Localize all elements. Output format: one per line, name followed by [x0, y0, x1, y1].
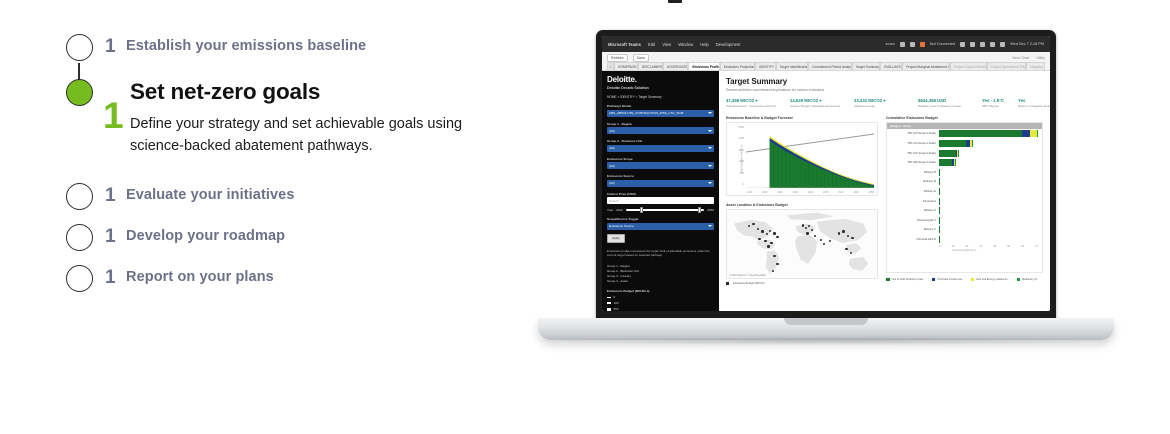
area-chart-svg — [746, 126, 874, 188]
bar-category-label: Refinery B — [887, 171, 939, 174]
year-slider[interactable]: Year 2022 2050 — [607, 208, 714, 212]
tab-target-identification[interactable]: Target Identification — [776, 62, 808, 70]
bar-chart-xticks: 0 10 20 30 40 50 60 70 — [939, 245, 1042, 248]
tab-emissions-projections[interactable]: Emissions Projections — [720, 62, 755, 70]
bar-segment-purchased-goods — [1022, 130, 1030, 137]
kpi-value: 33,431 MtCO2 e — [854, 98, 908, 103]
menu-edit[interactable]: Edit — [648, 42, 655, 47]
map-plot[interactable]: © 2022 Mapbox © OpenStreetMap — [726, 209, 878, 279]
deloitte-logo: Deloitte. — [607, 76, 714, 84]
ytick: 1000 — [734, 160, 744, 163]
step-body-3: Evaluate your initiatives — [126, 183, 295, 203]
step-item-1[interactable]: 1 Establish your emissions baseline — [62, 34, 366, 61]
step-body-5: Report on your plans — [126, 265, 274, 285]
menu-view[interactable]: View — [662, 42, 671, 47]
step-circle-icon[interactable] — [66, 224, 93, 251]
apply-button[interactable]: Apply — [607, 234, 625, 243]
bar-category-label: TBC (UK Scope 3 Scale) — [887, 152, 939, 155]
xtick: 2022 — [762, 191, 767, 194]
step-body-2: Set net-zero goals Define your strategy … — [130, 79, 482, 157]
map-marker[interactable] — [764, 240, 766, 242]
report-tab-bar: ‹ HOMEPAGE DISCLAIMER AGGREGATE Emission… — [607, 62, 1045, 70]
area-chart-title: Emissions Baseline & Budget Forecast — [726, 116, 878, 120]
map-marker[interactable] — [776, 236, 778, 238]
budget-legend-item: 100 — [607, 301, 714, 305]
legend-item[interactable]: Stationary (S... — [1017, 278, 1039, 281]
report-title: Target Summary — [726, 77, 1043, 86]
ytick: 500 — [734, 172, 744, 175]
bar-track — [939, 169, 1042, 176]
ytick: 2500 — [734, 126, 744, 129]
battery-icon[interactable] — [900, 42, 905, 47]
bar-track — [939, 236, 1042, 243]
emissions-baseline-chart: Emissions Baseline & Budget Forecast Tot… — [726, 116, 878, 196]
map-marker[interactable] — [806, 232, 808, 234]
laptop-shadow — [532, 337, 1120, 345]
kpi-label: Relative Cost of Abatement Gap — [918, 104, 972, 108]
legend-label: Purchase Goods and... — [937, 278, 964, 281]
step-item-4[interactable]: 1 Develop your roadmap — [62, 224, 285, 251]
xtick: 2042 — [838, 191, 843, 194]
year-slider-handle[interactable] — [698, 207, 701, 212]
step-title-5[interactable]: Report on your plans — [126, 265, 274, 285]
tab-project-capex-effective[interactable]: Project Capex Effective — [950, 62, 987, 70]
step-circle-active-icon[interactable] — [66, 79, 93, 106]
save-button[interactable]: Save — [633, 54, 649, 62]
map-title: Asset Location & Emissions Budget — [726, 203, 878, 207]
os-menu-bar: Microsoft Teams Edit View Window Help De… — [602, 36, 1050, 52]
bar-row[interactable]: Refinery E — [887, 187, 1042, 197]
bar-segment-use-of-sold — [939, 198, 940, 205]
year-slider-track[interactable] — [626, 209, 705, 211]
kpi-card: 14,529 MtCO2 e Carbon Budget (Allowable … — [790, 98, 844, 109]
bar-row[interactable]: Refinery K — [887, 206, 1042, 216]
legend-label: Use of Sold Products (Cate... — [892, 278, 926, 281]
step-marker-4 — [62, 224, 96, 251]
tab-scroll-left-icon[interactable]: ‹ — [607, 62, 614, 70]
step-marker-2 — [62, 79, 96, 106]
legend-swatch-icon — [932, 278, 935, 281]
kpi-value: Yes - 1.5°C — [982, 98, 1008, 103]
bar-segment-use-of-sold — [939, 159, 952, 166]
map-marker[interactable] — [770, 242, 772, 244]
app-body: Deloitte. Deloitte Decarb Solution HOME … — [602, 71, 1050, 311]
tab-target-summary[interactable]: Target Summary — [852, 62, 880, 70]
step-title-4[interactable]: Develop your roadmap — [126, 224, 285, 244]
bar-segment-use-of-sold — [939, 140, 966, 147]
map-marker[interactable] — [838, 232, 840, 234]
bar-segment-use-of-sold — [939, 150, 956, 157]
group-item-4: Group 4 - Asset — [607, 279, 714, 284]
kpi-card: 33,431 MtCO2 e Abatement Gap — [854, 98, 908, 109]
ytick: 2000 — [734, 137, 744, 140]
legend-swatch-icon — [607, 308, 611, 311]
step-marker-3 — [62, 183, 96, 210]
page-root: 1 Establish your emissions baseline 1 Se… — [0, 0, 1170, 434]
kpi-row: 47,456 MtCO2 e Total Emissions - Commitm… — [726, 98, 1043, 109]
filter-select-emissions-source[interactable]: (All) — [607, 180, 714, 187]
laptop-mockup: Microsoft Teams Edit View Window Help De… — [528, 30, 1166, 380]
kpi-card: 47,456 MtCO2 e Total Emissions - Commitm… — [726, 98, 780, 109]
legend-item[interactable]: Purchase Goods and... — [932, 278, 964, 281]
bar-row[interactable]: Refinery B — [887, 167, 1042, 177]
xtick: 60 — [1021, 245, 1024, 248]
xtick: 2034 — [808, 191, 813, 194]
filter-label-carbon-price: Carbon Price (USD) — [607, 192, 714, 196]
step-body-1: Establish your emissions baseline — [126, 34, 366, 54]
kpi-value: 47,456 MtCO2 e — [726, 98, 780, 103]
xtick: 40 — [993, 245, 996, 248]
bar-track — [939, 198, 1042, 205]
xtick: 30 — [979, 245, 982, 248]
kpi-label: Total Emissions - Commitment Period — [726, 104, 780, 108]
filter-select-scope-source-toggle[interactable]: Emissions Source — [607, 223, 714, 230]
legend-label: Stationary (S... — [1022, 278, 1039, 281]
step-title-2[interactable]: Set net-zero goals — [130, 79, 482, 105]
budget-legend-title: Emissions Budget (MtCO2 e) — [607, 289, 714, 293]
tab-commitment-period-analysis[interactable]: Commitment Period Analysis — [808, 62, 852, 70]
bar-category-label: Refinery C — [887, 228, 939, 231]
refresh-button[interactable]: Refresh — [607, 54, 628, 62]
map-marker[interactable] — [773, 232, 775, 234]
ytick: 0 — [734, 183, 744, 186]
app-toolbar: Refresh Save New Chart Utility ‹ HOMEPAG… — [602, 52, 1050, 71]
bar-category-label: Refinery M — [887, 180, 939, 183]
step-description-2: Define your strategy and set achievable … — [130, 113, 482, 157]
tab-homepage[interactable]: HOMEPAGE — [614, 62, 638, 70]
control-center-icon[interactable] — [1000, 42, 1005, 47]
xtick: 2026 — [777, 191, 782, 194]
kpi-label: Relies on Negative Emissions — [1018, 104, 1050, 108]
kpi-value: Yes — [1018, 98, 1050, 103]
search-icon[interactable] — [990, 42, 995, 47]
menu-development[interactable]: Development — [716, 42, 741, 47]
menu-window[interactable]: Window — [678, 42, 693, 47]
xtick: 2050 — [869, 191, 874, 194]
legend-value: 100 — [614, 301, 619, 305]
toolbar-right-group: New Chart Utility — [1012, 56, 1045, 60]
bar-track — [939, 207, 1042, 214]
bar-category-label: TBC (CA Scope 3 Scale) — [887, 142, 939, 145]
tab-mapping[interactable]: Mapping — [1026, 62, 1045, 70]
tab-project-operational-effect[interactable]: Project Operational Effect — [987, 62, 1027, 70]
toolbar-row-primary: Refresh Save New Chart Utility — [607, 54, 1045, 62]
tab-project-marginal-abatement[interactable]: Project Marginal Abatement C... — [902, 62, 949, 70]
xtick: 0 — [939, 245, 940, 248]
filter-select-emissions-scope[interactable]: (All) — [607, 162, 714, 169]
bar-row[interactable]: Chemical plant J — [887, 215, 1042, 225]
bar-segment-use-of-sold — [939, 178, 940, 185]
xtick: 10 — [952, 245, 955, 248]
filter-input-carbon-price[interactable]: Search — [607, 197, 714, 204]
map-marker[interactable] — [757, 228, 759, 230]
year-slider-max: 2050 — [707, 208, 714, 212]
menubar-app-name[interactable]: Microsoft Teams — [608, 42, 641, 47]
map-marker[interactable] — [814, 235, 816, 237]
report-subtitle: Review ambition commitment implications … — [726, 88, 1043, 92]
breadcrumb[interactable]: HOME > IDENTIFY > Target Summary — [607, 95, 714, 99]
cumulative-emissions-budget-chart: Cumulative Emissions Budget Group 4 - As… — [886, 116, 1043, 285]
bar-row[interactable]: TBC (CA Scope 3 Scale) — [887, 139, 1042, 149]
budget-legend-item: 500 — [607, 307, 714, 311]
solution-subtitle: Deloitte Decarb Solution — [607, 86, 714, 90]
kpi-label: Abatement Gap — [854, 104, 908, 108]
xtick: 70 — [1035, 245, 1038, 248]
kpi-card: Yes - 1.5°C SBTi Aligned — [982, 98, 1008, 109]
map-marker[interactable] — [820, 239, 822, 241]
xtick: 2030 — [793, 191, 798, 194]
bar-category-label: TBC (DE Scope 3 Scale) — [887, 161, 939, 164]
filter-label-emissions-scope: Emissions Scope — [607, 157, 714, 161]
step-marker-5 — [62, 265, 96, 292]
bar-chart-title: Cumulative Emissions Budget — [886, 116, 1043, 120]
laptop-lid: Microsoft Teams Edit View Window Help De… — [596, 30, 1056, 320]
bar-row[interactable]: Chemical plant D — [887, 235, 1042, 245]
report-canvas: Target Summary Review ambition commitmen… — [719, 71, 1050, 311]
step-number-3: 1 — [96, 183, 126, 205]
charts-row: Emissions Baseline & Budget Forecast Tot… — [726, 116, 1043, 285]
filter-select-group1-region[interactable]: (All) — [607, 127, 714, 134]
step-circle-icon[interactable] — [66, 183, 93, 210]
bar-track — [939, 188, 1042, 195]
legend-swatch-icon — [607, 302, 611, 304]
bar-segment-use-of-sold — [939, 169, 940, 176]
laptop-screen: Microsoft Teams Edit View Window Help De… — [602, 36, 1050, 311]
map-marker[interactable] — [802, 224, 804, 226]
new-chart-button[interactable]: New Chart — [1012, 56, 1029, 60]
map-marker[interactable] — [761, 230, 763, 232]
filters-note: Emissions budget represents the upper li… — [607, 249, 714, 258]
bar-track — [939, 217, 1042, 224]
menu-help[interactable]: Help — [700, 42, 709, 47]
map-marker[interactable] — [847, 235, 849, 237]
step-number-1: 1 — [96, 34, 126, 56]
xtick: 2038 — [823, 191, 828, 194]
cropped-text-fragment — [668, 0, 682, 3]
map-legend: Emissions Budget (MtCO2) — [726, 282, 878, 285]
bar-chart-legend: Use of Sold Products (Cate... Purchase G… — [886, 278, 1043, 281]
bar-track — [939, 140, 1042, 147]
alert-icon[interactable] — [920, 42, 925, 47]
filters-panel: Deloitte. Deloitte Decarb Solution HOME … — [602, 71, 719, 311]
bar-row[interactable]: TBC (DE Scope 3 Scale) — [887, 158, 1042, 168]
map-legend-swatch-icon — [726, 282, 729, 285]
bar-category-label: Oil sands A — [887, 200, 939, 203]
step-body-4: Develop your roadmap — [126, 224, 285, 244]
step-item-2[interactable]: 1 Set net-zero goals Define your strateg… — [62, 79, 482, 157]
step-circle-icon[interactable] — [66, 265, 93, 292]
ytick: 1500 — [734, 149, 744, 152]
gear-icon[interactable] — [910, 42, 915, 47]
bar-row[interactable]: Refinery C — [887, 225, 1042, 235]
xtick: 2019 — [747, 191, 752, 194]
kpi-value: $644,358 USD — [918, 98, 972, 103]
bar-chart-plot[interactable]: Group 4 - Asset TBC (US Scope 3 Scale) — [886, 122, 1043, 273]
kpi-label: Carbon Budget (Allowable Emissions) — [790, 104, 844, 108]
legend-swatch-icon — [1017, 278, 1020, 281]
bar-category-label: Chemical plant D — [887, 238, 939, 241]
area-chart-yticks: 2500 2000 1500 1000 500 0 — [734, 126, 744, 186]
map-marker[interactable] — [823, 243, 825, 245]
kpi-value: 14,529 MtCO2 e — [790, 98, 844, 103]
legend-value: 500 — [614, 307, 619, 311]
area-chart-xticks: 2019 2022 2026 2030 2034 2038 2042 2046 — [747, 191, 874, 194]
kpi-label: SBTi Aligned — [982, 104, 1008, 108]
clock-label[interactable]: Wed Dec 7 2:18 PM — [1010, 42, 1044, 46]
kpi-card: Yes Relies on Negative Emissions — [1018, 98, 1050, 109]
map-marker[interactable] — [773, 255, 775, 257]
legend-swatch-icon — [971, 278, 974, 281]
legend-swatch-icon — [886, 278, 889, 281]
filter-select-group2-business-unit[interactable]: (All) — [607, 145, 714, 152]
step-circle-icon[interactable] — [66, 34, 93, 61]
year-slider-label: Year — [607, 208, 613, 212]
tab-emissions-profile[interactable]: Emissions Profile — [688, 62, 719, 70]
step-number-4: 1 — [96, 224, 126, 246]
tab-identify[interactable]: IDENTIFY — [755, 62, 776, 70]
filter-label-group1-region: Group 1 - Region — [607, 122, 714, 126]
bar-row[interactable]: Refinery M — [887, 177, 1042, 187]
step-marker-1 — [62, 34, 96, 61]
bar-track — [939, 226, 1042, 233]
legend-item[interactable]: Use of Sold Products (Cate... — [886, 278, 925, 281]
bar-row[interactable]: Oil sands A — [887, 196, 1042, 206]
area-chart-plot[interactable]: Total Emissions (MtCO2 e) 2500 2000 1500… — [726, 122, 878, 196]
tab-aggregate[interactable]: AGGREGATE — [663, 62, 688, 70]
zoom-status-label[interactable]: zoom — [885, 42, 894, 46]
map-marker[interactable] — [842, 230, 844, 232]
bar-row[interactable]: TBC (US Scope 3 Scale) — [887, 129, 1042, 139]
bar-segment-use-of-sold — [939, 188, 940, 195]
map-marker[interactable] — [752, 223, 754, 225]
keyboard-icon[interactable] — [960, 42, 965, 47]
filter-select-pathways-model[interactable]: ABS_ABSOLUTE_CONTRACTION_2050_1.5C_SCM — [607, 110, 714, 117]
tab-evaluate[interactable]: EVALUATE — [880, 62, 902, 70]
bar-segment-use-of-sold — [939, 207, 940, 214]
year-slider-min: 2022 — [616, 208, 623, 212]
bar-category-label: Refinery K — [887, 209, 939, 212]
utility-button[interactable]: Utility — [1036, 56, 1045, 60]
step-title-1[interactable]: Establish your emissions baseline — [126, 34, 366, 54]
filter-label-group2-business-unit: Group 2 - Business Unit — [607, 139, 714, 143]
xtick: 20 — [965, 245, 968, 248]
tab-disclaimer[interactable]: DISCLAIMER — [638, 62, 663, 70]
legend-value: 0 — [614, 295, 616, 299]
bar-segment-fuel-energy — [1030, 130, 1038, 137]
bar-category-label: Refinery E — [887, 190, 939, 193]
bar-segment-stationary — [1037, 130, 1038, 137]
map-marker[interactable] — [767, 245, 769, 247]
progress-stepper: 1 Establish your emissions baseline 1 Se… — [62, 26, 522, 316]
bar-row[interactable]: TBC (UK Scope 3 Scale) — [887, 148, 1042, 158]
filter-label-emissions-source: Emissions Source — [607, 174, 714, 178]
map-attribution: © 2022 Mapbox © OpenStreetMap — [729, 274, 766, 277]
filter-label-pathways-model: Pathways Model — [607, 104, 714, 108]
kpi-card: $644,358 USD Relative Cost of Abatement … — [918, 98, 972, 109]
bar-track — [939, 178, 1042, 185]
xtick: 2046 — [853, 191, 858, 194]
filter-label-scope-source-toggle: Scope/Source Toggle — [607, 217, 714, 221]
world-map-svg — [727, 210, 877, 278]
map-marker[interactable] — [758, 238, 760, 240]
bar-category-label: Chemical plant J — [887, 219, 939, 222]
network-status-label[interactable]: Not Connected — [930, 42, 955, 46]
group-hierarchy-list: Group 1 - Region Group 2 - Business Unit… — [607, 264, 714, 283]
step-item-3[interactable]: 1 Evaluate your initiatives — [62, 183, 295, 210]
bar-category-label: TBC (US Scope 3 Scale) — [887, 132, 939, 135]
bar-chart-xlabel: Emissions (MtCO2 e) — [887, 249, 1042, 252]
bar-track — [939, 150, 1042, 157]
step-title-3[interactable]: Evaluate your initiatives — [126, 183, 295, 203]
xtick: 50 — [1007, 245, 1010, 248]
map-legend-label: Emissions Budget (MtCO2) — [733, 282, 764, 285]
legend-item[interactable]: Fuel and Energy-related Ac... — [971, 278, 1010, 281]
step-item-5[interactable]: 1 Report on your plans — [62, 265, 274, 292]
asset-location-map: Asset Location & Emissions Budget — [726, 203, 878, 285]
step-number-5: 1 — [96, 265, 126, 287]
bar-track — [939, 130, 1042, 137]
menubar-status-area: zoom Not Connected Wed Dec 7 2:18 PM — [885, 42, 1044, 47]
wifi-icon[interactable] — [980, 42, 985, 47]
bar-segment-use-of-sold — [939, 130, 1022, 137]
bar-track — [939, 159, 1042, 166]
map-marker[interactable] — [776, 263, 778, 265]
budget-legend-item: 0 — [607, 295, 714, 299]
legend-swatch-icon — [607, 297, 611, 298]
year-slider-handle[interactable] — [640, 207, 643, 212]
screen-icon[interactable] — [970, 42, 975, 47]
legend-label: Fuel and Energy-related Ac... — [976, 278, 1010, 281]
step-number-2: 1 — [96, 79, 130, 134]
